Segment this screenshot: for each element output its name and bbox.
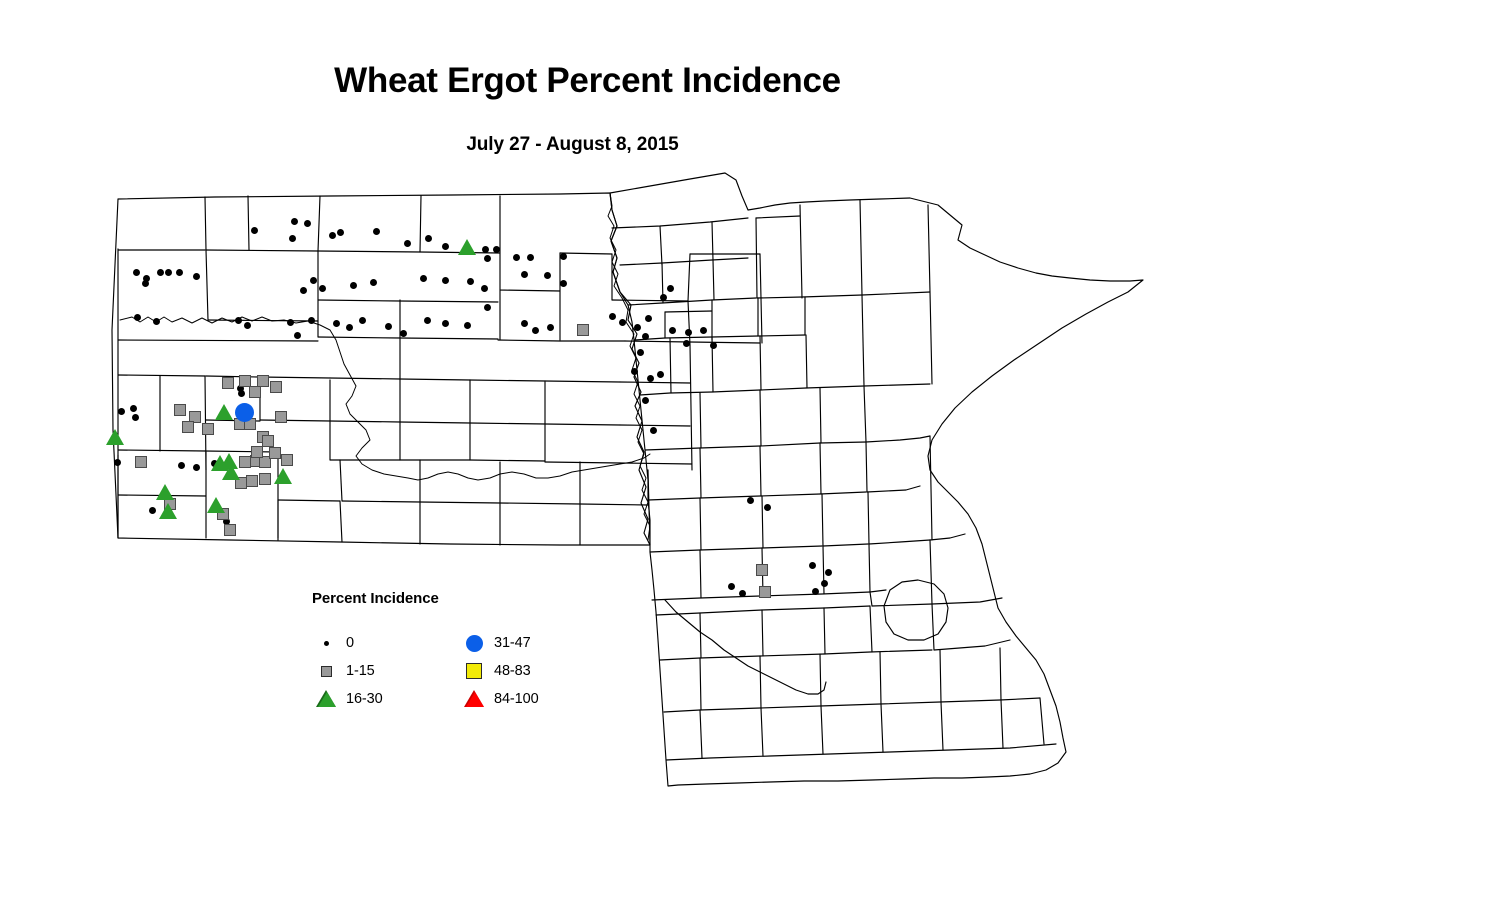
- map-marker-zero: [467, 278, 474, 285]
- map-marker-zero: [346, 324, 353, 331]
- map-marker-zero: [710, 342, 717, 349]
- map-marker-zero: [544, 272, 551, 279]
- map-marker-low: [759, 586, 771, 598]
- map-marker-zero: [521, 320, 528, 327]
- map-marker-zero: [642, 333, 649, 340]
- legend-title: Percent Incidence: [312, 590, 439, 607]
- legend-item-0[interactable]: 0: [312, 632, 354, 654]
- map-page: Wheat Ergot Percent Incidence July 27 - …: [0, 0, 1503, 900]
- legend-label: 84-100: [494, 691, 539, 707]
- map-marker-zero: [700, 327, 707, 334]
- map-marker-zero: [424, 317, 431, 324]
- map-marker-zero: [350, 282, 357, 289]
- map-marker-zero: [244, 322, 251, 329]
- map-marker-zero: [370, 279, 377, 286]
- map-marker-zero: [634, 324, 641, 331]
- map-marker-zero: [764, 504, 771, 511]
- map-marker-zero: [114, 459, 121, 466]
- map-marker-zero: [560, 253, 567, 260]
- map-marker-low: [251, 446, 263, 458]
- map-marker-zero: [289, 235, 296, 242]
- map-marker-zero: [493, 246, 500, 253]
- map-marker-zero: [484, 255, 491, 262]
- legend-label: 1-15: [346, 663, 375, 679]
- map-marker-zero: [560, 280, 567, 287]
- map-marker-mid: [274, 468, 292, 484]
- map-marker-zero: [118, 408, 125, 415]
- map-marker-zero: [329, 232, 336, 239]
- map-marker-zero: [251, 227, 258, 234]
- map-marker-mid: [207, 497, 225, 513]
- legend-item-84-100[interactable]: 84-100: [460, 688, 539, 710]
- map-marker-low: [182, 421, 194, 433]
- red-river: [608, 193, 650, 540]
- map-legend: Percent Incidence 01-1516-3031-4748-8384…: [312, 590, 572, 715]
- map-marker-zero: [647, 375, 654, 382]
- map-marker-zero: [373, 228, 380, 235]
- legend-symbol-triangle: [312, 688, 340, 710]
- map-marker-mid: [222, 464, 240, 480]
- map-marker-zero: [812, 588, 819, 595]
- legend-label: 31-47: [494, 635, 531, 651]
- map-marker-zero: [235, 317, 242, 324]
- map-marker-zero: [527, 254, 534, 261]
- legend-item-31-47[interactable]: 31-47: [460, 632, 531, 654]
- map-marker-zero: [683, 340, 690, 347]
- legend-shape: [466, 692, 484, 707]
- map-marker-zero: [308, 317, 315, 324]
- map-marker-mid: [458, 239, 476, 255]
- map-marker-zero: [310, 277, 317, 284]
- map-marker-low: [259, 473, 271, 485]
- legend-shape: [321, 666, 332, 677]
- legend-shape: [466, 635, 483, 652]
- map-marker-zero: [660, 294, 667, 301]
- legend-symbol-circle: [460, 632, 488, 654]
- map-marker-low: [577, 324, 589, 336]
- map-marker-low: [281, 454, 293, 466]
- map-marker-zero: [193, 464, 200, 471]
- map-marker-zero: [728, 583, 735, 590]
- map-marker-low: [174, 404, 186, 416]
- legend-item-1-15[interactable]: 1-15: [312, 660, 375, 682]
- map-marker-mid: [106, 429, 124, 445]
- map-marker-zero: [133, 269, 140, 276]
- map-marker-zero: [333, 320, 340, 327]
- map-marker-zero: [238, 390, 245, 397]
- map-marker-zero: [294, 332, 301, 339]
- map-marker-zero: [739, 590, 746, 597]
- map-marker-zero: [130, 405, 137, 412]
- map-marker-zero: [132, 414, 139, 421]
- map-marker-zero: [287, 319, 294, 326]
- map-marker-zero: [619, 319, 626, 326]
- legend-item-48-83[interactable]: 48-83: [460, 660, 531, 682]
- map-marker-zero: [645, 315, 652, 322]
- legend-symbol-square: [460, 660, 488, 682]
- legend-label: 16-30: [346, 691, 383, 707]
- map-marker-zero: [637, 349, 644, 356]
- legend-symbol-dot: [312, 632, 340, 654]
- minnesota-river: [665, 600, 826, 694]
- map-marker-zero: [442, 277, 449, 284]
- map-marker-low: [270, 381, 282, 393]
- map-marker-zero: [547, 324, 554, 331]
- map-marker-zero: [134, 314, 141, 321]
- map-marker-low: [269, 447, 281, 459]
- map-marker-high: [235, 403, 254, 422]
- map-marker-low: [275, 411, 287, 423]
- map-marker-zero: [291, 218, 298, 225]
- map-marker-zero: [825, 569, 832, 576]
- map-marker-zero: [685, 329, 692, 336]
- map-marker-zero: [400, 330, 407, 337]
- map-marker-zero: [300, 287, 307, 294]
- map-marker-zero: [359, 317, 366, 324]
- map-marker-zero: [650, 427, 657, 434]
- legend-symbol-square: [312, 660, 340, 682]
- map-marker-zero: [142, 280, 149, 287]
- map-marker-mid: [215, 404, 233, 420]
- map-marker-zero: [747, 497, 754, 504]
- map-marker-zero: [149, 507, 156, 514]
- legend-symbol-triangle: [460, 688, 488, 710]
- map-marker-low: [246, 475, 258, 487]
- north-dakota-outline: [112, 193, 650, 545]
- map-marker-zero: [404, 240, 411, 247]
- state-county-boundaries: [0, 0, 1503, 900]
- map-marker-zero: [319, 285, 326, 292]
- map-marker-low: [262, 435, 274, 447]
- map-marker-zero: [425, 235, 432, 242]
- map-marker-zero: [669, 327, 676, 334]
- mille-lacs-lake: [884, 580, 948, 640]
- map-marker-low: [249, 386, 261, 398]
- map-marker-low: [222, 377, 234, 389]
- map-marker-zero: [609, 313, 616, 320]
- map-marker-zero: [667, 285, 674, 292]
- legend-shape: [318, 692, 336, 707]
- map-marker-zero: [165, 269, 172, 276]
- map-marker-zero: [482, 246, 489, 253]
- map-marker-zero: [484, 304, 491, 311]
- legend-label: 0: [346, 635, 354, 651]
- map-marker-zero: [821, 580, 828, 587]
- map-marker-zero: [442, 320, 449, 327]
- map-canvas[interactable]: [0, 0, 1503, 900]
- map-marker-low: [224, 524, 236, 536]
- map-marker-zero: [532, 327, 539, 334]
- map-marker-zero: [193, 273, 200, 280]
- map-marker-low: [135, 456, 147, 468]
- map-marker-zero: [157, 269, 164, 276]
- map-marker-zero: [420, 275, 427, 282]
- map-marker-zero: [513, 254, 520, 261]
- map-marker-zero: [464, 322, 471, 329]
- map-marker-zero: [385, 323, 392, 330]
- map-marker-zero: [657, 371, 664, 378]
- legend-item-16-30[interactable]: 16-30: [312, 688, 383, 710]
- map-marker-low: [756, 564, 768, 576]
- legend-shape: [324, 641, 329, 646]
- map-marker-zero: [442, 243, 449, 250]
- map-marker-zero: [631, 368, 638, 375]
- map-marker-zero: [304, 220, 311, 227]
- map-marker-zero: [642, 397, 649, 404]
- map-marker-zero: [481, 285, 488, 292]
- map-marker-low: [202, 423, 214, 435]
- map-marker-zero: [337, 229, 344, 236]
- map-marker-zero: [521, 271, 528, 278]
- map-marker-mid: [159, 503, 177, 519]
- map-marker-zero: [176, 269, 183, 276]
- map-marker-mid: [156, 484, 174, 500]
- map-marker-zero: [809, 562, 816, 569]
- legend-label: 48-83: [494, 663, 531, 679]
- legend-shape: [466, 663, 482, 679]
- map-marker-zero: [178, 462, 185, 469]
- map-marker-zero: [153, 318, 160, 325]
